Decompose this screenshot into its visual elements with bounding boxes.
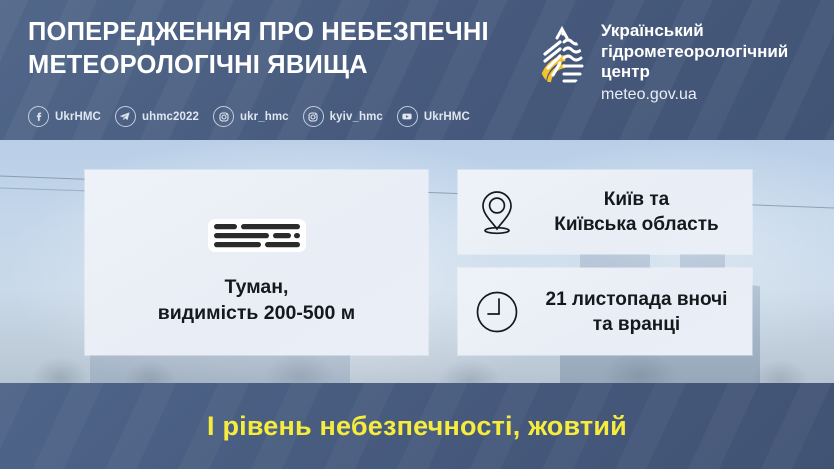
social-label-instagram-ukr: ukr_hmc — [240, 111, 289, 123]
social-label-instagram-kyiv: kyiv_hmc — [330, 111, 383, 123]
logo-line-2: гідрометеорологічний — [601, 42, 788, 63]
social-link-youtube[interactable]: UkrHMC — [397, 106, 470, 127]
facebook-icon — [28, 106, 49, 127]
ukrhmc-logo-icon — [537, 20, 587, 90]
weather-warning-infographic: ПОПЕРЕДЖЕННЯ ПРО НЕБЕЗПЕЧНІ МЕТЕОРОЛОГІЧ… — [0, 0, 834, 469]
social-label-youtube: UkrHMC — [424, 111, 470, 123]
social-link-instagram-kyiv[interactable]: kyiv_hmc — [303, 106, 383, 127]
region-label-line-2: Київська область — [527, 212, 746, 237]
social-label-telegram: uhmc2022 — [142, 111, 199, 123]
organization-logo[interactable]: Український гідрометеорологічний центр m… — [537, 20, 788, 104]
social-link-facebook[interactable]: UkrHMC — [28, 106, 101, 127]
clock-icon — [467, 290, 527, 334]
social-link-instagram-ukr[interactable]: ukr_hmc — [213, 106, 289, 127]
page-title-line-2: МЕТЕОРОЛОГІЧНІ ЯВИЩА — [28, 49, 498, 82]
page-title: ПОПЕРЕДЖЕННЯ ПРО НЕБЕЗПЕЧНІ МЕТЕОРОЛОГІЧ… — [28, 16, 498, 82]
social-links-row: UkrHMC uhmc2022 ukr_hm — [28, 106, 470, 127]
social-label-facebook: UkrHMC — [55, 111, 101, 123]
date-card: 21 листопада вночі та вранці — [458, 268, 752, 355]
region-card: Київ та Київська область — [458, 170, 752, 254]
phenomenon-label-line-1: Туман, — [158, 274, 355, 300]
organization-name: Український гідрометеорологічний центр m… — [601, 20, 788, 104]
telegram-icon — [115, 106, 136, 127]
date-label-line-1: 21 листопада вночі — [527, 287, 746, 312]
instagram-icon — [303, 106, 324, 127]
phenomenon-label-line-2: видимість 200-500 м — [158, 300, 355, 326]
date-label-line-2: та вранці — [527, 312, 746, 337]
logo-website-url[interactable]: meteo.gov.ua — [601, 85, 788, 104]
page-title-line-1: ПОПЕРЕДЖЕННЯ ПРО НЕБЕЗПЕЧНІ — [28, 16, 498, 49]
phenomenon-label: Туман, видимість 200-500 м — [158, 274, 355, 326]
instagram-icon — [213, 106, 234, 127]
fog-icon — [208, 219, 306, 252]
social-link-telegram[interactable]: uhmc2022 — [115, 106, 199, 127]
logo-line-3: центр — [601, 62, 788, 83]
header-band: ПОПЕРЕДЖЕННЯ ПРО НЕБЕЗПЕЧНІ МЕТЕОРОЛОГІЧ… — [0, 0, 834, 140]
phenomenon-card: Туман, видимість 200-500 м — [85, 170, 428, 355]
danger-level-text: І рівень небезпечності, жовтий — [207, 411, 627, 442]
region-label-line-1: Київ та — [527, 187, 746, 212]
region-label: Київ та Київська область — [527, 187, 752, 237]
location-pin-icon — [467, 189, 527, 235]
logo-line-1: Український — [601, 21, 788, 42]
youtube-icon — [397, 106, 418, 127]
footer-band: І рівень небезпечності, жовтий — [0, 383, 834, 469]
date-label: 21 листопада вночі та вранці — [527, 287, 752, 337]
